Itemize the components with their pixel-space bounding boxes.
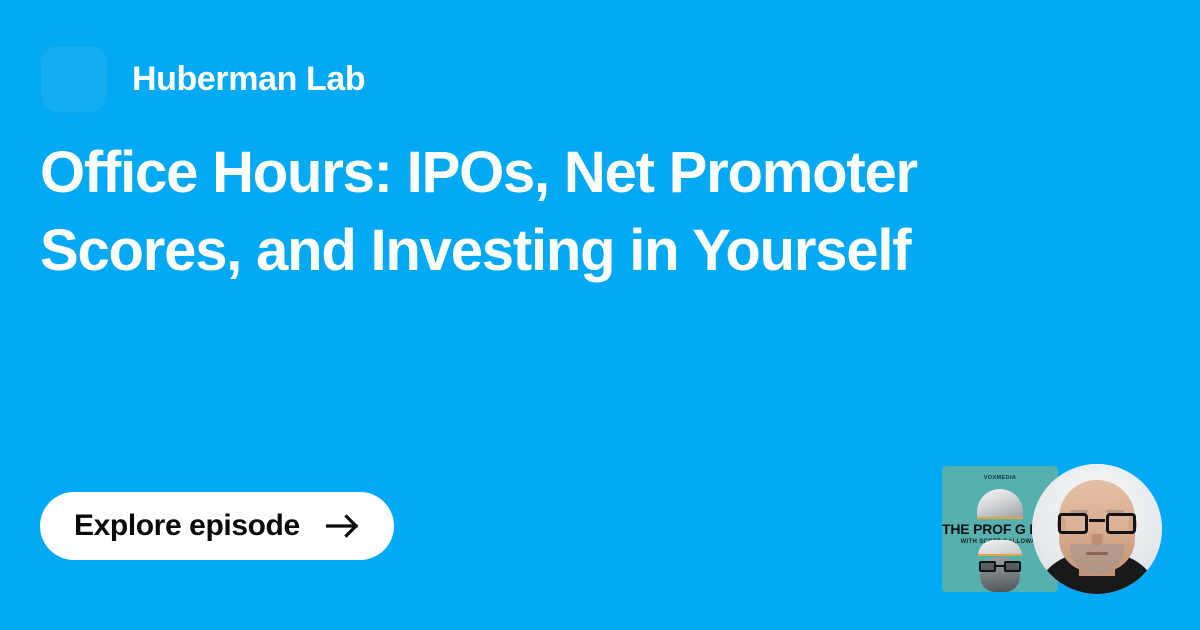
artwork-glasses-icon <box>978 561 1022 572</box>
episode-title: Office Hours: IPOs, Net Promoter Scores,… <box>40 134 1050 290</box>
explore-episode-button[interactable]: Explore episode <box>40 492 394 560</box>
show-header: Huberman Lab <box>40 45 365 113</box>
artwork-cluster: VOXMEDIA THE PROF G POD WITH SCOTT GALLO… <box>942 464 1164 594</box>
explore-episode-label: Explore episode <box>74 509 300 543</box>
host-avatar-photo <box>1032 464 1162 594</box>
show-logo-placeholder <box>40 45 108 113</box>
show-name: Huberman Lab <box>132 60 365 99</box>
episode-share-card: Huberman Lab Office Hours: IPOs, Net Pro… <box>0 0 1200 630</box>
host-glasses-icon <box>1058 513 1136 535</box>
artwork-host-illustration <box>972 540 1028 592</box>
host-avatar <box>1032 464 1162 594</box>
arrow-right-icon <box>326 513 360 539</box>
artwork-sphere-icon <box>977 489 1023 519</box>
